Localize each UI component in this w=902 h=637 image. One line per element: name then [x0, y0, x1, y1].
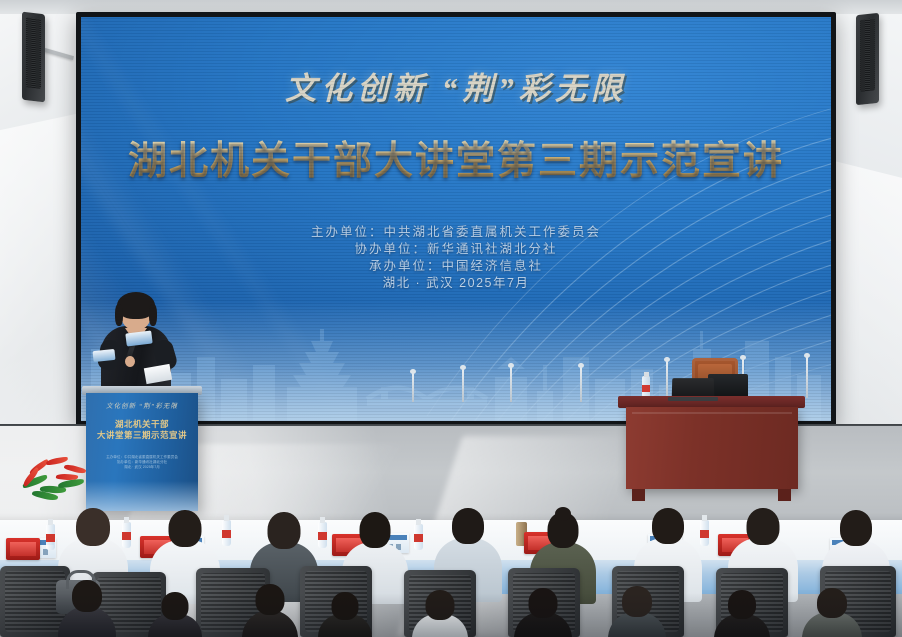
audience-person-back	[316, 592, 374, 637]
screen-text-block: 文化创新 “荆”彩无限 湖北机关干部大讲堂第三期示范宣讲 主办单位：中共湖北省委…	[81, 63, 831, 292]
person-head	[162, 592, 189, 620]
audience-person-back	[512, 588, 574, 637]
person-head	[76, 508, 110, 546]
person-head	[452, 508, 484, 544]
podium-org-line-3: 湖北 · 武汉 2025年7月	[86, 465, 198, 470]
person-head	[360, 512, 391, 548]
laptop-keyboard-base	[668, 397, 718, 401]
screen-main-title: 湖北机关干部大讲堂第三期示范宣讲	[81, 130, 831, 186]
audience-person-back	[800, 588, 864, 637]
person-head	[817, 588, 847, 618]
audience-person-back	[240, 584, 300, 637]
podium-title-line-1: 湖北机关干部	[86, 419, 198, 430]
mic-pole	[580, 366, 582, 402]
presenter-desk	[624, 396, 799, 504]
mic-pole	[510, 366, 512, 402]
audience-person-back	[712, 590, 772, 637]
speaker-grille	[26, 17, 41, 89]
presenter-hair	[117, 292, 155, 319]
water-bottle	[414, 524, 423, 550]
person-head	[728, 590, 756, 619]
desk-leg	[632, 489, 645, 501]
person-head	[747, 508, 780, 545]
mic-flag-card-secondary	[92, 349, 115, 362]
water-bottle	[46, 524, 55, 550]
screen-slogan: 文化创新 “荆”彩无限	[81, 63, 831, 108]
person-head	[169, 510, 202, 547]
water-bottle	[642, 376, 650, 398]
red-gift-box	[6, 538, 40, 560]
person-head	[256, 584, 285, 615]
person-head	[840, 510, 872, 546]
person-head	[268, 512, 301, 549]
wall-speaker-left-icon	[22, 12, 45, 103]
mic-pole	[666, 360, 668, 398]
hair-bun	[555, 507, 571, 521]
person-head	[652, 508, 684, 544]
wall-speaker-right-icon	[856, 13, 879, 105]
mic-pole	[412, 372, 414, 402]
audience-person-back	[410, 590, 470, 637]
water-bottle	[222, 520, 231, 546]
audience-person-back	[606, 586, 668, 637]
audience-person-back	[146, 592, 204, 637]
floral-decoration	[18, 452, 102, 502]
person-head	[622, 586, 652, 617]
screen-location-date: 湖北 · 武汉 2025年7月	[81, 275, 831, 292]
desk-leg	[778, 489, 791, 501]
conference-hall-scene: 文化创新 “荆”彩无限 湖北机关干部大讲堂第三期示范宣讲 主办单位：中共湖北省委…	[0, 0, 902, 637]
screen-organizer-lines: 主办单位：中共湖北省委直属机关工作委员会 协办单位：新华通讯社湖北分社 承办单位…	[81, 224, 831, 292]
mic-pole	[806, 356, 808, 398]
podium-title-line-2: 大讲堂第三期示范宣讲	[86, 430, 198, 441]
podium-skyline-graphic	[86, 481, 198, 511]
person-head	[529, 588, 558, 618]
person-head	[332, 592, 359, 620]
organizer-line-executor: 承办单位：中国经济信息社	[81, 258, 831, 275]
mic-pole	[462, 368, 464, 402]
speaker-grille	[860, 18, 875, 92]
person-head	[426, 590, 455, 620]
audience-person-back	[56, 580, 118, 637]
person-head	[72, 580, 102, 612]
organizer-line-coorganizer: 协办单位：新华通讯社湖北分社	[81, 241, 831, 258]
podium-panel: 文化创新 “荆”彩无限 湖北机关干部 大讲堂第三期示范宣讲 主办单位：中共湖北省…	[86, 393, 198, 511]
organizer-line-host: 主办单位：中共湖北省委直属机关工作委员会	[81, 224, 831, 241]
podium-organizer-lines: 主办单位：中共湖北省委直属机关工作委员会 协办单位：新华通讯社湖北分社 湖北 ·…	[86, 455, 198, 470]
presenter-hand	[125, 356, 135, 367]
podium-slogan: 文化创新 “荆”彩无限	[86, 400, 198, 410]
desk-front-panel	[626, 407, 798, 489]
podium-title: 湖北机关干部 大讲堂第三期示范宣讲	[86, 419, 198, 441]
presenter-figure	[99, 296, 175, 396]
